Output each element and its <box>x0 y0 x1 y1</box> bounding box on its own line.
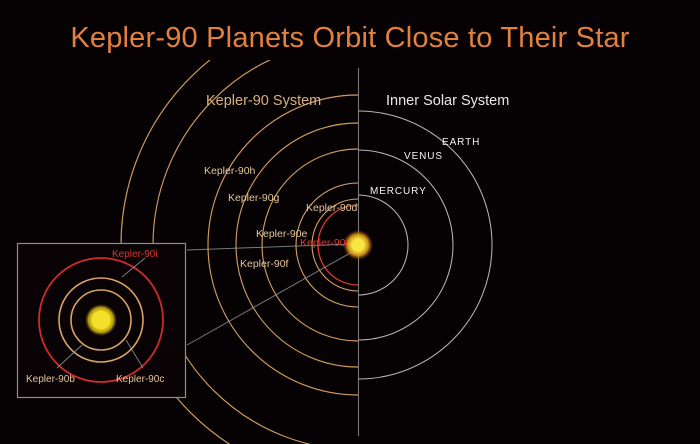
label-venus: VENUS <box>404 151 443 162</box>
label-earth: EARTH <box>442 137 480 148</box>
label-kepler-90g: Kepler-90g <box>228 192 279 204</box>
label-kepler-90i: Kepler-90i <box>300 237 348 249</box>
inset-label-kepler-90b: Kepler-90b <box>26 374 75 385</box>
page-title: Kepler-90 Planets Orbit Close to Their S… <box>0 22 700 55</box>
label-mercury: MERCURY <box>370 186 427 197</box>
panel-header-kepler: Kepler-90 System <box>206 93 321 109</box>
infographic-canvas: Kepler-90 Planets Orbit Close to Their S… <box>0 0 700 444</box>
inset-star <box>92 311 111 330</box>
star-kepler-90 <box>353 240 363 250</box>
inset-label-kepler-90i: Kepler-90i <box>112 249 158 260</box>
orbit-diagram <box>0 0 700 444</box>
label-kepler-90f: Kepler-90f <box>240 258 288 270</box>
label-kepler-90d: Kepler-90d <box>306 202 357 214</box>
label-kepler-90h: Kepler-90h <box>204 165 255 177</box>
inset-label-kepler-90c: Kepler-90c <box>116 374 164 385</box>
panel-header-solar: Inner Solar System <box>386 93 509 109</box>
